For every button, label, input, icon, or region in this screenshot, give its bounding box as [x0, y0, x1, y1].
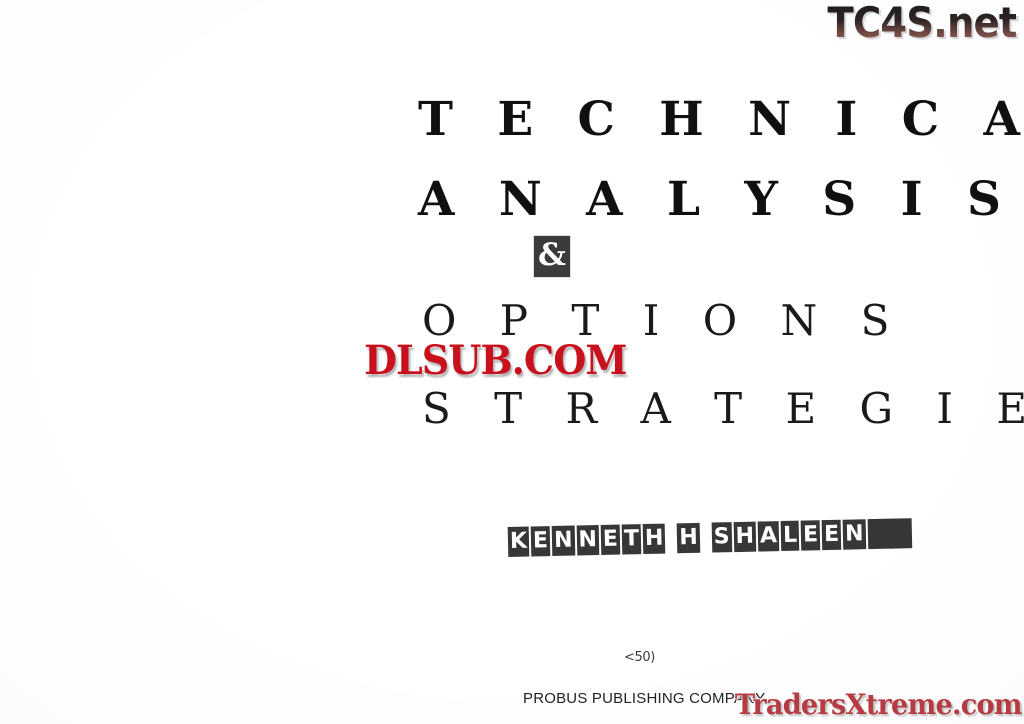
- author-letter-tile: A: [758, 521, 780, 551]
- cover-ampersand-glyph: &: [538, 240, 566, 271]
- book-cover-scan: TC4S.net TC4S.net T E C H N I C A L A N …: [0, 0, 1024, 724]
- cover-title-line-technical: T E C H N I C A L: [418, 96, 1024, 143]
- cover-title-line-analysis: A N A L Y S I S: [418, 176, 1015, 223]
- author-letter-tile: E: [822, 520, 842, 550]
- author-letter-tile: S: [711, 522, 732, 552]
- author-letter-tile: T: [622, 524, 642, 554]
- author-letter-tile: L: [781, 521, 800, 551]
- imprint-artifact-mark: <50): [624, 650, 655, 665]
- cover-title-line-options: O P T I O N S: [422, 300, 904, 342]
- publisher-name: PROBUS PUBLISHING COMPANY: [523, 690, 765, 707]
- author-letter-tile: N: [576, 525, 599, 555]
- author-letter-tile: E: [531, 526, 551, 556]
- author-letter-tile: H: [643, 524, 666, 554]
- author-letter-tile: K: [508, 527, 530, 557]
- cover-ampersand-block: &: [534, 236, 570, 277]
- author-letter-tile: E: [601, 525, 621, 555]
- watermark-dlsub: DLSUB.COM: [364, 341, 626, 381]
- author-letter-tile: E: [801, 520, 821, 550]
- author-letter-tile: N: [843, 519, 866, 549]
- watermark-tc4s: TC4S.net: [827, 2, 1016, 44]
- author-spacer-tile: [701, 523, 710, 553]
- watermark-tradersxtreme: TradersXtreme.com: [735, 690, 1022, 720]
- author-spacer-tile: [667, 523, 676, 553]
- author-spacer-tile: [867, 518, 912, 549]
- author-letter-tile: N: [552, 526, 575, 556]
- author-name-strip: KENNETH H SHALEEN: [508, 518, 912, 557]
- author-letter-tile: H: [733, 522, 756, 552]
- cover-title-line-strategies: S T R A T E G I E: [422, 388, 1024, 430]
- author-letter-tile: H: [677, 523, 700, 553]
